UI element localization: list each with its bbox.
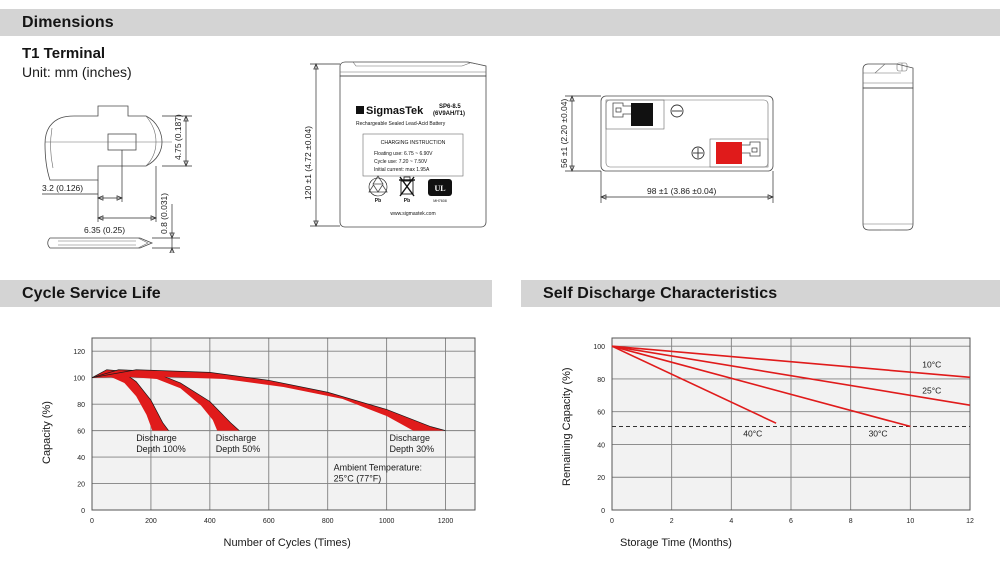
battery-side-view: [845, 52, 935, 252]
self-ytick: 20: [597, 475, 605, 482]
positive-terminal: [710, 139, 768, 167]
self-xtick: 0: [610, 518, 614, 525]
terminal-dim-6-35: 6.35 (0.25): [84, 225, 125, 235]
negative-symbol-icon: [671, 105, 683, 117]
terminal-dim-0-8: 0.8 (0.031): [159, 193, 169, 234]
ul-mark-caption: MH7608: [433, 199, 447, 203]
cycle-xtick: 200: [145, 518, 157, 525]
self-ytick: 0: [601, 508, 605, 515]
battery-subtitle: Rechargeable Sealed Lead-Acid Battery: [356, 121, 446, 127]
cycle-annotation-3: 25°C (77°F): [334, 473, 382, 483]
cycle-annotation-1: Discharge: [216, 433, 257, 443]
self-x-axis-label: Storage Time (Months): [620, 537, 732, 549]
self-discharge-chart: 40°C30°C25°C10°C024681012020406080100Sto…: [530, 320, 990, 555]
section-title-cycle-service-life: Cycle Service Life: [0, 285, 161, 303]
negative-terminal: [606, 100, 664, 129]
self-y-axis-label: Remaining Capacity (%): [561, 367, 573, 486]
self-xtick: 10: [906, 518, 914, 525]
cycle-annotation-0: Discharge: [136, 433, 177, 443]
battery-top-height-dim: 56 ±1 (2.20 ±0.04): [559, 98, 569, 168]
cycle-ytick: 80: [77, 402, 85, 409]
cycle-ytick: 20: [77, 482, 85, 489]
cycle-annotation-0: Depth 100%: [136, 444, 186, 454]
terminal-unit-label: Unit: mm (inches): [22, 64, 132, 80]
self-xtick: 4: [729, 518, 733, 525]
cycle-x-axis-label: Number of Cycles (Times): [224, 537, 351, 549]
terminal-dim-4-75: 4.75 (0.187): [173, 114, 183, 160]
self-series-label-1: 30°C: [869, 428, 888, 438]
cycle-annotation-3: Ambient Temperature:: [334, 462, 422, 472]
svg-text:S: S: [357, 109, 360, 114]
battery-top-width-dim: 98 ±1 (3.86 ±0.04): [647, 186, 717, 196]
section-header-self-discharge: Self Discharge Characteristics: [521, 280, 1000, 307]
cycle-ytick: 120: [73, 349, 85, 356]
self-series-label-0: 40°C: [743, 428, 762, 438]
cycle-ytick: 0: [81, 508, 85, 515]
battery-model: SP6-8.5: [439, 104, 461, 110]
charging-line-cycle: Cycle use: 7.20 ~ 7.50V: [374, 159, 428, 165]
cycle-ytick: 60: [77, 429, 85, 436]
terminal-drawing: 4.75 (0.187) 3.2 (0.126) 6.35 (0.25) 0.8…: [20, 88, 220, 253]
self-xtick: 8: [849, 518, 853, 525]
section-title-dimensions: Dimensions: [0, 14, 114, 32]
cycle-annotation-2: Depth 30%: [390, 444, 435, 454]
cycle-y-axis-label: Capacity (%): [41, 401, 53, 464]
brand-name: SigmasTek: [366, 105, 424, 117]
cycle-xtick: 1200: [438, 518, 454, 525]
self-xtick: 12: [966, 518, 974, 525]
cycle-xtick: 1000: [379, 518, 395, 525]
terminal-dim-3-2: 3.2 (0.126): [42, 183, 83, 193]
battery-front-height-dim: 120 ±1 (4.72 ±0.04): [303, 126, 313, 200]
self-ytick: 40: [597, 442, 605, 449]
self-ytick: 80: [597, 377, 605, 384]
self-ytick: 100: [593, 344, 605, 351]
charging-line-initial: Initial current: max 1.95A: [374, 167, 430, 173]
battery-spec: (6V9AH/T1): [433, 111, 465, 117]
no-bin-icon-caption: Pb: [404, 198, 410, 204]
cycle-xtick: 0: [90, 518, 94, 525]
battery-website: www.sigmastek.com: [390, 211, 435, 217]
cycle-ytick: 100: [73, 376, 85, 383]
cycle-annotation-2: Discharge: [390, 433, 431, 443]
terminal-title: T1 Terminal: [22, 45, 105, 62]
cycle-annotation-1: Depth 50%: [216, 444, 261, 454]
cycle-ytick: 40: [77, 455, 85, 462]
recycle-pb-icon: [369, 176, 387, 196]
section-header-dimensions: Dimensions: [0, 9, 1000, 36]
self-xtick: 6: [789, 518, 793, 525]
positive-symbol-icon: [692, 147, 704, 159]
no-bin-pb-icon: [399, 177, 415, 196]
battery-top-view: 56 ±1 (2.20 ±0.04) 98 ±1 (3.86 ±0.04): [525, 75, 825, 225]
self-series-label-3: 10°C: [922, 359, 941, 369]
self-ytick: 60: [597, 410, 605, 417]
cycle-xtick: 800: [322, 518, 334, 525]
charging-instruction-title: CHARGING INSTRUCTION: [381, 140, 446, 146]
self-series-label-2: 25°C: [922, 386, 941, 396]
svg-text:UL: UL: [434, 184, 445, 193]
self-xtick: 2: [670, 518, 674, 525]
battery-front-view: 120 ±1 (4.72 ±0.04) S SigmasTek SP6-8.5 …: [296, 50, 511, 250]
cycle-xtick: 600: [263, 518, 275, 525]
section-header-cycle-service-life: Cycle Service Life: [0, 280, 492, 307]
section-title-self-discharge: Self Discharge Characteristics: [521, 285, 777, 303]
charging-line-floating: Floating use: 6.75 ~ 6.90V: [374, 151, 433, 157]
cycle-xtick: 400: [204, 518, 216, 525]
ul-mark-icon: UL: [428, 179, 452, 196]
recycle-icon-caption: Pb: [375, 198, 381, 204]
cycle-service-life-chart: 020040060080010001200020406080100120Numb…: [20, 320, 500, 555]
